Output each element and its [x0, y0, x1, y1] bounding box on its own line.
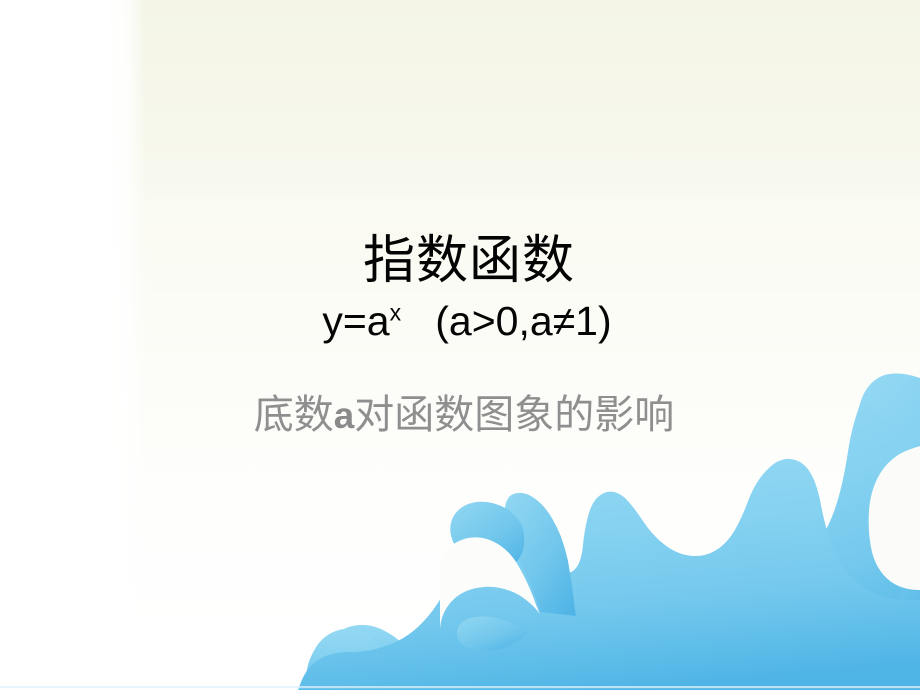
subtitle-suffix: 对函数图象的影响 [354, 392, 674, 437]
title-slide: 指数函数 y=ax (a>0,a≠1) 底数a对函数图象的影响 [0, 0, 920, 690]
subtitle-prefix: 底数 [254, 392, 334, 437]
page-subtitle: 底数a对函数图象的影响 [0, 392, 920, 438]
formula-gap [401, 298, 435, 344]
page-title: 指数函数 [0, 234, 920, 290]
subtitle-accent-variable: a [334, 395, 354, 436]
formula-exponent: x [390, 299, 401, 325]
left-white-stripe [0, 0, 146, 690]
formula-line: y=ax (a>0,a≠1) [0, 299, 920, 344]
formula-condition: (a>0,a≠1) [435, 298, 611, 344]
formula-base: y=a [322, 298, 389, 344]
